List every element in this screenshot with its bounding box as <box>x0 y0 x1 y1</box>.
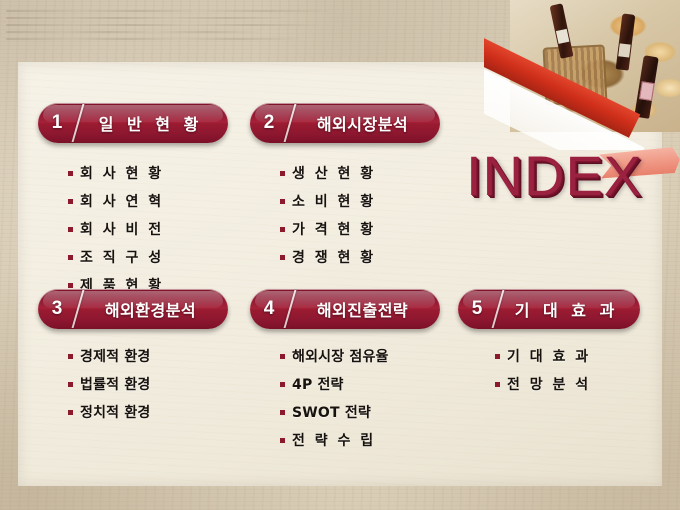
bullet-icon <box>68 283 73 288</box>
list-item[interactable]: 경 쟁 현 황 <box>280 247 376 267</box>
list-item-label: 조 직 구 성 <box>80 247 164 267</box>
bullet-icon <box>280 354 285 359</box>
bullet-icon <box>68 199 73 204</box>
section-items-3: 경제적 환경 법률적 환경 정치적 환경 <box>68 346 150 430</box>
list-item-label: 정치적 환경 <box>80 402 150 422</box>
bullet-icon <box>68 255 73 260</box>
bullet-icon <box>280 171 285 176</box>
bullet-icon <box>280 382 285 387</box>
list-item-label: 회 사 현 황 <box>80 163 164 183</box>
list-item-label: 회 사 비 전 <box>80 219 164 239</box>
bullet-icon <box>495 354 500 359</box>
list-item-label: 회 사 연 혁 <box>80 191 164 211</box>
section-number-5: 5 <box>458 298 496 320</box>
list-item[interactable]: 해외시장 점유율 <box>280 346 389 366</box>
list-item[interactable]: 조 직 구 성 <box>68 247 164 267</box>
bullet-icon <box>280 199 285 204</box>
list-item-label: 전 략 수 립 <box>292 430 376 450</box>
list-item-label: 소 비 현 황 <box>292 191 376 211</box>
section-title-1: 일 반 현 황 <box>79 111 228 135</box>
bullet-icon <box>280 255 285 260</box>
bullet-icon <box>280 410 285 415</box>
list-item-label: 4P 전략 <box>292 374 344 394</box>
bullet-icon <box>68 354 73 359</box>
section-title-4: 해외진출전략 <box>291 297 440 321</box>
list-item-label: 법률적 환경 <box>80 374 150 394</box>
section-header-4[interactable]: 4 해외진출전략 <box>250 289 440 329</box>
list-item-label: 경제적 환경 <box>80 346 150 366</box>
list-item[interactable]: 4P 전략 <box>280 374 389 394</box>
list-item[interactable]: 가 격 현 황 <box>280 219 376 239</box>
list-item[interactable]: 법률적 환경 <box>68 374 150 394</box>
bullet-icon <box>68 227 73 232</box>
section-header-3[interactable]: 3 해외환경분석 <box>38 289 228 329</box>
list-item[interactable]: 생 산 현 황 <box>280 163 376 183</box>
presentation-slide: INDEX 1 일 반 현 황 회 사 현 황 회 사 연 혁 회 사 비 전 … <box>0 0 680 510</box>
section-header-5[interactable]: 5 기 대 효 과 <box>458 289 640 329</box>
list-item[interactable]: 전 략 수 립 <box>280 430 389 450</box>
section-header-1[interactable]: 1 일 반 현 황 <box>38 103 228 143</box>
section-number-4: 4 <box>250 298 288 320</box>
list-item[interactable]: 기 대 효 과 <box>495 346 591 366</box>
list-item[interactable]: 회 사 비 전 <box>68 219 164 239</box>
section-number-2: 2 <box>250 112 288 134</box>
list-item[interactable]: 전 망 분 석 <box>495 374 591 394</box>
wine-bottle-icon <box>634 55 659 119</box>
list-item[interactable]: 회 사 현 황 <box>68 163 164 183</box>
bullet-icon <box>280 227 285 232</box>
bullet-icon <box>495 382 500 387</box>
bullet-icon <box>68 171 73 176</box>
list-item[interactable]: 소 비 현 황 <box>280 191 376 211</box>
bullet-icon <box>68 410 73 415</box>
section-items-2: 생 산 현 황 소 비 현 황 가 격 현 황 경 쟁 현 황 <box>280 163 376 275</box>
section-number-1: 1 <box>38 112 76 134</box>
section-header-2[interactable]: 2 해외시장분석 <box>250 103 440 143</box>
list-item[interactable]: 회 사 연 혁 <box>68 191 164 211</box>
list-item[interactable]: SWOT 전략 <box>280 402 389 422</box>
list-item-label: 가 격 현 황 <box>292 219 376 239</box>
list-item[interactable]: 경제적 환경 <box>68 346 150 366</box>
section-title-2: 해외시장분석 <box>291 111 440 135</box>
section-items-1: 회 사 현 황 회 사 연 혁 회 사 비 전 조 직 구 성 제 품 현 황 <box>68 163 164 303</box>
parchment-texture-lines <box>6 10 336 68</box>
decorative-header-graphic <box>484 0 680 150</box>
bullet-icon <box>280 438 285 443</box>
wine-bottle-icon <box>616 13 636 70</box>
list-item-label: 경 쟁 현 황 <box>292 247 376 267</box>
bullet-icon <box>68 382 73 387</box>
section-title-3: 해외환경분석 <box>79 297 228 321</box>
section-items-5: 기 대 효 과 전 망 분 석 <box>495 346 591 402</box>
section-items-4: 해외시장 점유율 4P 전략 SWOT 전략 전 략 수 립 <box>280 346 389 458</box>
list-item-label: 해외시장 점유율 <box>292 346 389 366</box>
list-item-label: 기 대 효 과 <box>507 346 591 366</box>
list-item[interactable]: 정치적 환경 <box>68 402 150 422</box>
page-title: INDEX <box>466 143 642 208</box>
list-item-label: 전 망 분 석 <box>507 374 591 394</box>
section-title-5: 기 대 효 과 <box>499 297 640 321</box>
section-number-3: 3 <box>38 298 76 320</box>
list-item-label: SWOT 전략 <box>292 402 371 422</box>
list-item-label: 생 산 현 황 <box>292 163 376 183</box>
